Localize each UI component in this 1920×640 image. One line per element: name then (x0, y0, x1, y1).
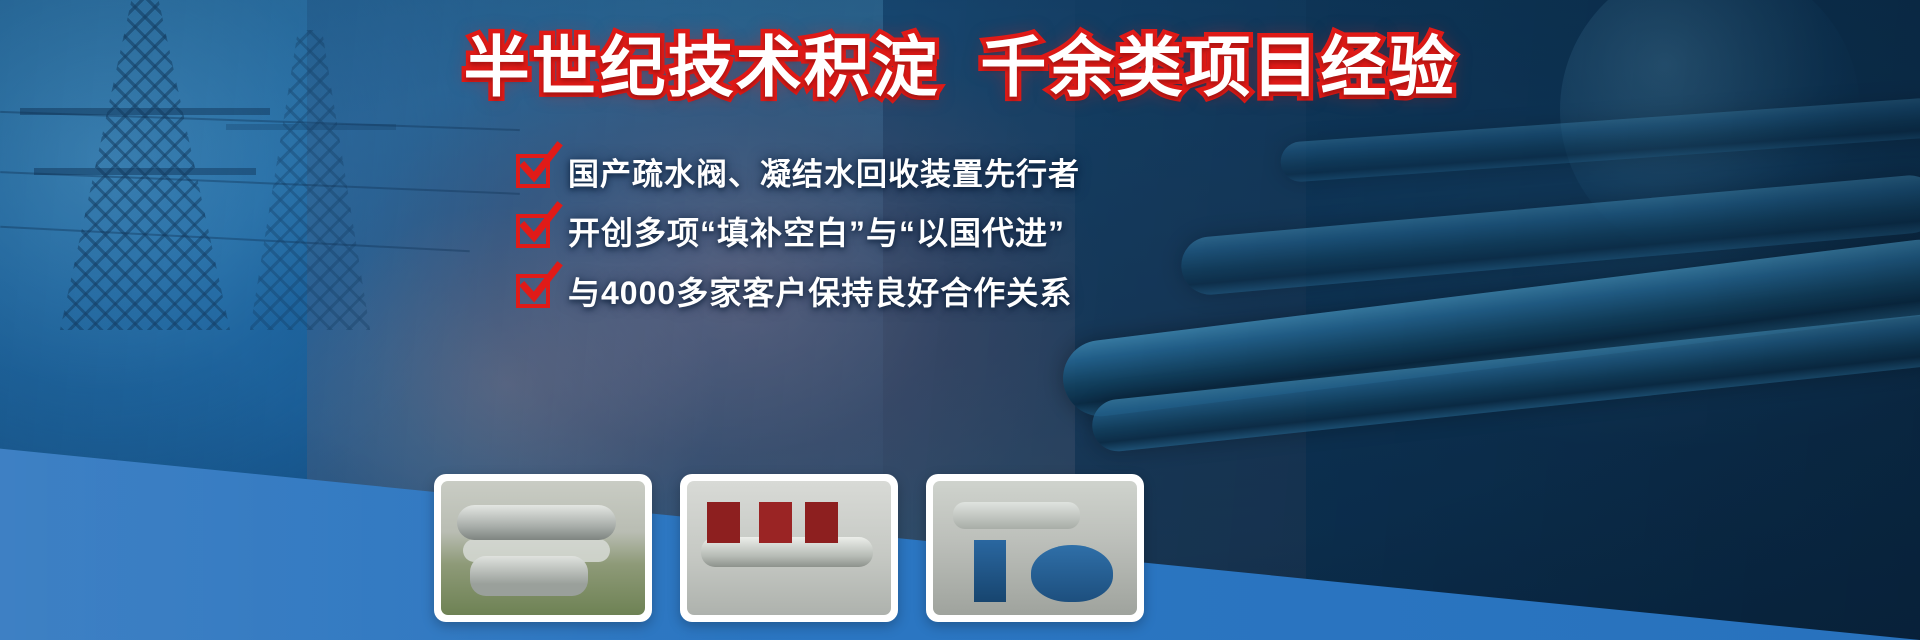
product-photo-gallery (434, 474, 1144, 622)
checkbox-checked-icon (516, 274, 550, 308)
checkbox-checked-icon (516, 154, 550, 188)
pump-shape (974, 540, 1007, 602)
list-item: 国产疏水阀、凝结水回收装置先行者 (516, 148, 1416, 194)
feature-list: 国产疏水阀、凝结水回收装置先行者 开创多项“填补空白”与“以国代进” 与4000… (516, 148, 1416, 314)
page-title: 半世纪技术积淀 千余类项目经验 (0, 34, 1920, 100)
list-item: 开创多项“填补空白”与“以国代进” (516, 208, 1416, 254)
list-item-label: 与4000多家客户保持良好合作关系 (568, 268, 1072, 314)
product-photo-thumbnail[interactable] (680, 474, 898, 622)
product-photo-image (687, 481, 891, 615)
promo-banner: 半世纪技术积淀 千余类项目经验 国产疏水阀、凝结水回收装置先行者 开创多项“填补… (0, 0, 1920, 640)
product-photo-thumbnail[interactable] (926, 474, 1144, 622)
product-photo-image (441, 481, 645, 615)
product-photo-image (933, 481, 1137, 615)
list-item-label: 开创多项“填补空白”与“以国代进” (568, 208, 1065, 254)
product-photo-thumbnail[interactable] (434, 474, 652, 622)
list-item-label: 国产疏水阀、凝结水回收装置先行者 (568, 149, 1080, 194)
list-item: 与4000多家客户保持良好合作关系 (516, 268, 1416, 314)
checkbox-checked-icon (516, 214, 550, 248)
